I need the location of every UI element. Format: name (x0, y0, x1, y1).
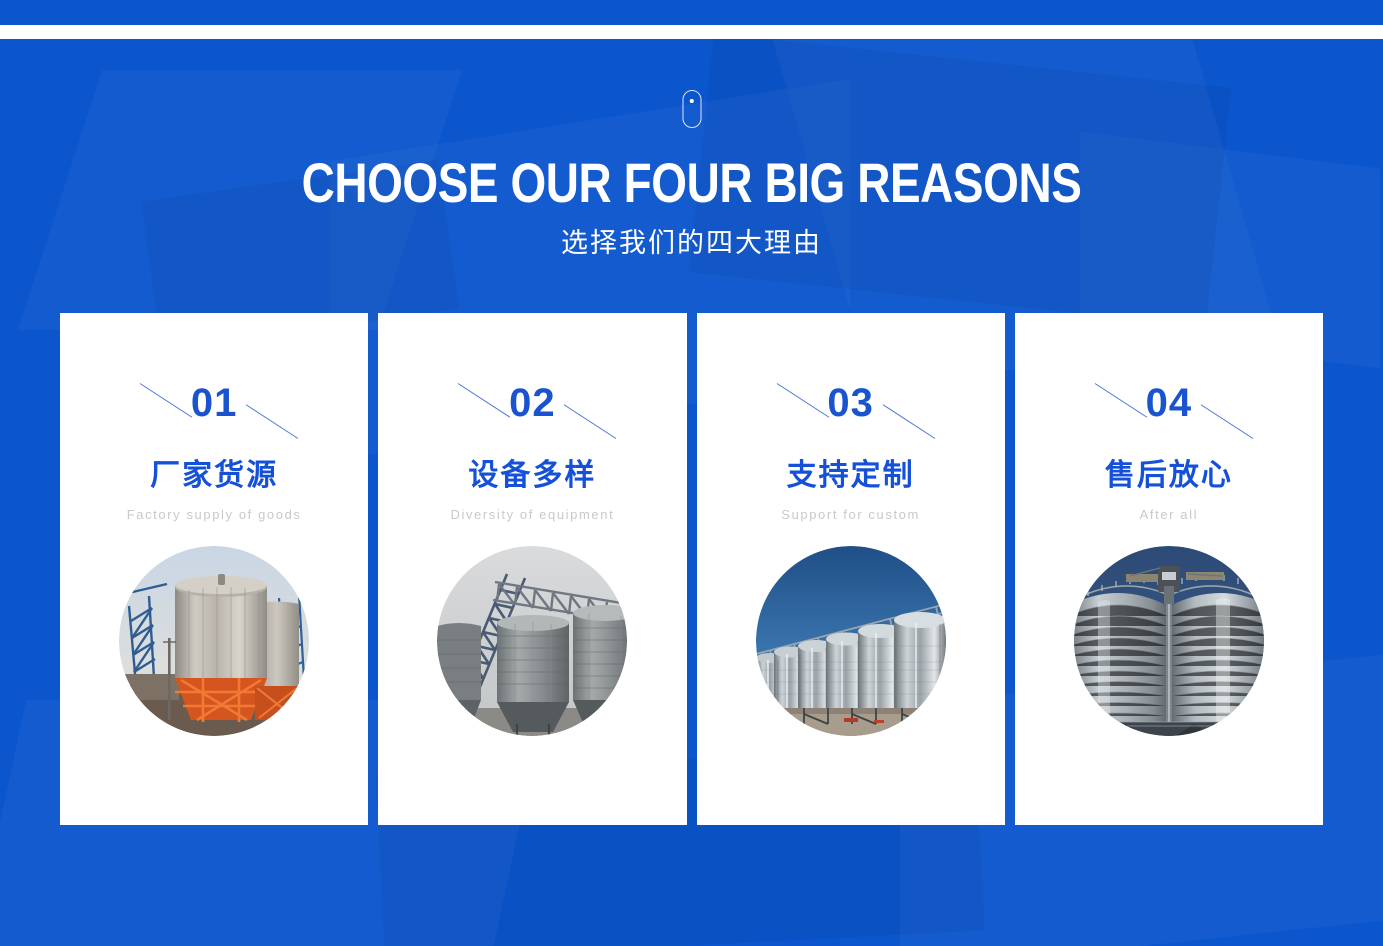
reason-card-04[interactable]: 04 售后放心 After all (1015, 313, 1323, 825)
reason-card-02[interactable]: 02 设备多样 Diversity of equipment (378, 313, 686, 825)
card-number-block: 02 (452, 375, 612, 431)
diagonal-slash-bottom-right-icon (564, 404, 617, 439)
card-title-cn: 设备多样 (468, 457, 596, 495)
card-photo-row-of-galvanized-silos (756, 546, 946, 736)
card-number-block: 01 (134, 375, 294, 431)
card-title-en: Support for custom (781, 505, 920, 524)
diagonal-slash-bottom-right-icon (1201, 404, 1254, 439)
reason-card-03[interactable]: 03 支持定制 Support for custom (697, 313, 1005, 825)
diagonal-slash-top-left-icon (458, 383, 511, 418)
card-title-en: After all (1140, 505, 1198, 524)
card-title-cn: 售后放心 (1105, 457, 1233, 495)
section-heading: CHOOSE OUR FOUR BIG REASONS 选择我们的四大理由 (0, 152, 1383, 260)
card-number: 04 (1146, 383, 1193, 423)
card-photo-grey-silos-with-conveyor-truss (437, 546, 627, 736)
diagonal-slash-top-left-icon (1095, 383, 1148, 418)
diagonal-slash-top-left-icon (776, 383, 829, 418)
card-number-block: 04 (1089, 375, 1249, 431)
card-title-en: Diversity of equipment (450, 505, 614, 524)
reason-card-01[interactable]: 01 厂家货源 Factory supply of goods (60, 313, 368, 825)
card-title-cn: 支持定制 (787, 457, 915, 495)
scroll-mouse-icon[interactable] (682, 90, 701, 128)
diagonal-slash-bottom-right-icon (882, 404, 935, 439)
page-title-cn: 选择我们的四大理由 (0, 226, 1383, 260)
card-number-block: 03 (771, 375, 931, 431)
diagonal-slash-top-left-icon (140, 383, 193, 418)
card-title-en: Factory supply of goods (127, 505, 302, 524)
page-title-en: CHOOSE OUR FOUR BIG REASONS (124, 152, 1258, 214)
diagonal-slash-bottom-right-icon (246, 404, 299, 439)
card-title-cn: 厂家货源 (150, 457, 278, 495)
card-number: 03 (827, 383, 874, 423)
top-white-divider (0, 25, 1383, 39)
reason-card-list: 01 厂家货源 Factory supply of goods (60, 313, 1323, 825)
card-photo-steel-silo-with-orange-frame (119, 546, 309, 736)
card-number: 01 (191, 383, 238, 423)
card-photo-twin-corrugated-silos (1074, 546, 1264, 736)
promo-section: CHOOSE OUR FOUR BIG REASONS 选择我们的四大理由 01… (0, 0, 1383, 946)
card-number: 02 (509, 383, 556, 423)
scroll-mouse-wheel-dot (690, 99, 694, 103)
